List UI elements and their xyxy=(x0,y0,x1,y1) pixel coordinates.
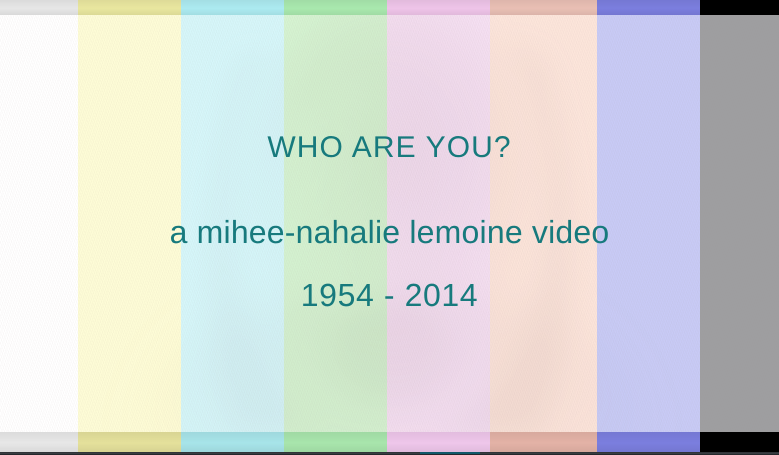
color-bar-blue-top xyxy=(597,0,700,15)
color-bars-main xyxy=(0,0,779,455)
color-bar-white xyxy=(0,0,78,455)
color-bar-yellow-top xyxy=(78,0,181,15)
color-bar-red xyxy=(490,0,597,455)
color-bar-magenta-bottom xyxy=(387,432,490,452)
color-bar-yellow-bottom xyxy=(78,432,181,452)
color-bar-blue-bottom xyxy=(597,432,700,452)
color-bars-top-strip xyxy=(0,0,779,15)
color-bars-bottom-strip xyxy=(0,432,779,452)
color-bar-cyan xyxy=(181,0,284,455)
color-bar-green xyxy=(284,0,387,455)
color-bar-grey xyxy=(700,0,779,455)
color-bar-magenta-top xyxy=(387,0,490,15)
color-bar-white-top xyxy=(0,0,78,15)
color-bar-blue xyxy=(597,0,700,455)
bottom-scanline-accent xyxy=(420,452,480,454)
color-bar-green-top xyxy=(284,0,387,15)
color-bar-cyan-bottom xyxy=(181,432,284,452)
color-bar-black-top xyxy=(700,0,779,15)
color-bar-cyan-top xyxy=(181,0,284,15)
color-bar-yellow xyxy=(78,0,181,455)
color-bar-red-bottom xyxy=(490,432,597,452)
color-bar-magenta xyxy=(387,0,490,455)
color-bar-white-bottom xyxy=(0,432,78,452)
video-frame: WHO ARE YOU? a mihee-nahalie lemoine vid… xyxy=(0,0,779,455)
color-bar-green-bottom xyxy=(284,432,387,452)
color-bar-red-top xyxy=(490,0,597,15)
color-bar-black-bottom xyxy=(700,432,779,452)
